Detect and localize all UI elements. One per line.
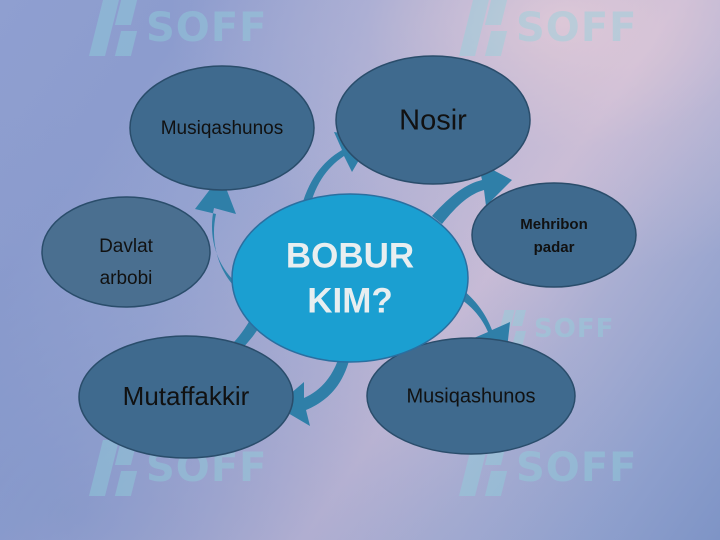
node-label-line1: Mehribon — [520, 216, 588, 233]
node-label: Musiqashunos — [407, 385, 536, 407]
center-label-line1: BOBUR — [286, 236, 414, 275]
node-mutaffakkir[interactable]: Mutaffakkir — [79, 336, 293, 458]
node-mehribon-padar[interactable]: Mehribon padar — [472, 183, 636, 287]
node-musiqashunos-top[interactable]: Musiqashunos — [130, 66, 314, 190]
center-label-line2: KIM? — [307, 281, 393, 320]
node-label-line2: padar — [534, 239, 575, 256]
node-label: Nosir — [399, 105, 467, 137]
node-label: Musiqashunos — [161, 118, 284, 139]
node-davlat-arbobi[interactable]: Davlat arbobi — [42, 197, 210, 307]
node-label-line1: Davlat — [99, 236, 154, 257]
node-center-bobur-kim[interactable]: BOBUR KIM? — [232, 194, 468, 362]
node-label-line2: arbobi — [100, 268, 153, 289]
node-nosir[interactable]: Nosir — [336, 56, 530, 184]
mind-map-diagram: Musiqashunos Nosir Mehribon padar Musiqa… — [0, 0, 720, 540]
slide-canvas: SOFF SOFF SOFF SOFF SOFF — [0, 0, 720, 540]
node-label: Mutaffakkir — [123, 381, 250, 411]
